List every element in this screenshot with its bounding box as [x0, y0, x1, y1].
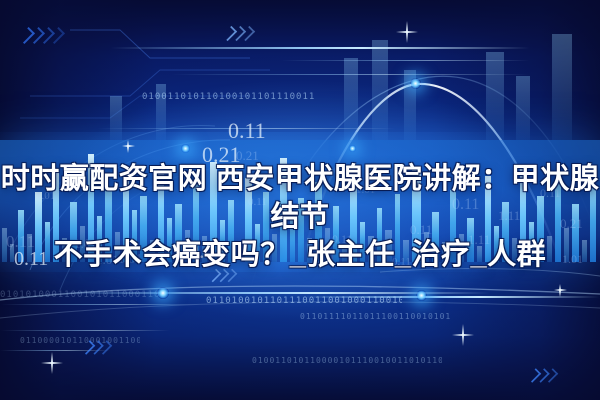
headline-block: 时时赢配资官网 西安甲状腺医院讲解：甲状腺结节 不手术会癌变吗？_张主任_治疗_… [0, 160, 600, 274]
headline-line-2: 不手术会癌变吗？_张主任_治疗_人群 [0, 236, 600, 274]
headline-line-1: 时时赢配资官网 西安甲状腺医院讲解：甲状腺结节 [0, 160, 600, 236]
banner-image: 0100110101101001011011100110010001101001… [0, 0, 600, 400]
